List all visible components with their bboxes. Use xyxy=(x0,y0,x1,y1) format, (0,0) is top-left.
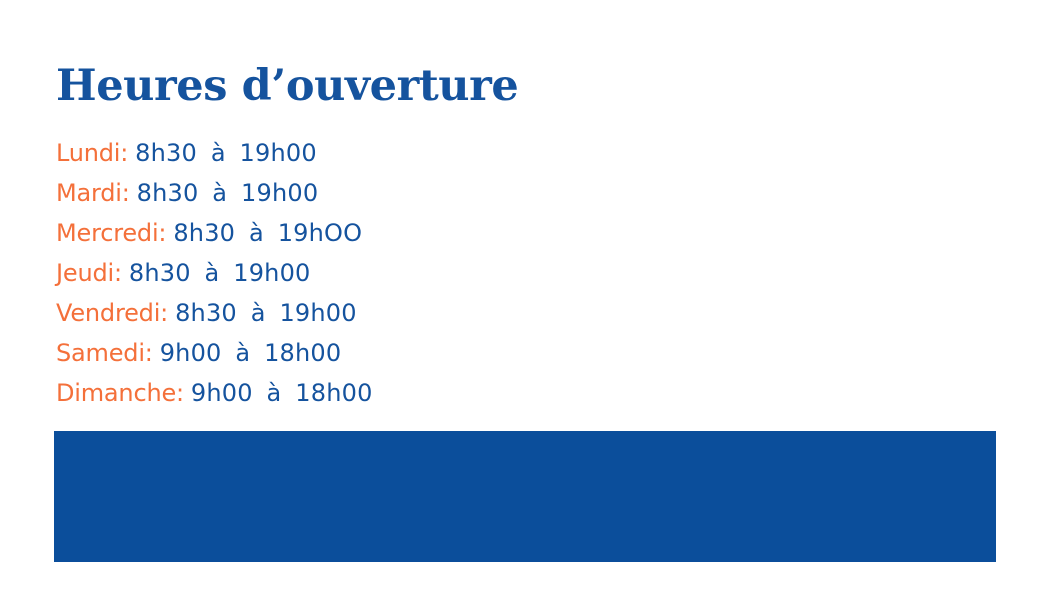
day-hours-lundi: 8h30 à 19h00 xyxy=(135,139,317,167)
day-label-dimanche: Dimanche: xyxy=(56,379,184,407)
day-hours-vendredi: 8h30 à 19h00 xyxy=(175,299,357,327)
day-hours-mardi: 8h30 à 19h00 xyxy=(137,179,319,207)
list-item: Dimanche:9h00 à 18h00 xyxy=(56,373,373,413)
day-hours-mercredi: 8h30 à 19hOO xyxy=(173,219,362,247)
list-item: Vendredi:8h30 à 19h00 xyxy=(56,293,373,333)
day-label-lundi: Lundi: xyxy=(56,139,128,167)
list-item: Samedi:9h00 à 18h00 xyxy=(56,333,373,373)
day-label-jeudi: Jeudi: xyxy=(56,259,122,287)
day-label-vendredi: Vendredi: xyxy=(56,299,168,327)
page-title: Heures d’ouverture xyxy=(56,60,518,112)
day-hours-samedi: 9h00 à 18h00 xyxy=(160,339,342,367)
day-hours-dimanche: 9h00 à 18h00 xyxy=(191,379,373,407)
list-item: Mardi:8h30 à 19h00 xyxy=(56,173,373,213)
list-item: Mercredi:8h30 à 19hOO xyxy=(56,213,373,253)
opening-hours-list: Lundi:8h30 à 19h00 Mardi:8h30 à 19h00 Me… xyxy=(56,133,373,413)
blue-banner xyxy=(54,431,996,562)
day-hours-jeudi: 8h30 à 19h00 xyxy=(129,259,311,287)
day-label-mardi: Mardi: xyxy=(56,179,130,207)
day-label-mercredi: Mercredi: xyxy=(56,219,166,247)
list-item: Lundi:8h30 à 19h00 xyxy=(56,133,373,173)
list-item: Jeudi:8h30 à 19h00 xyxy=(56,253,373,293)
day-label-samedi: Samedi: xyxy=(56,339,153,367)
page-root: Heures d’ouverture Lundi:8h30 à 19h00 Ma… xyxy=(0,0,1050,600)
